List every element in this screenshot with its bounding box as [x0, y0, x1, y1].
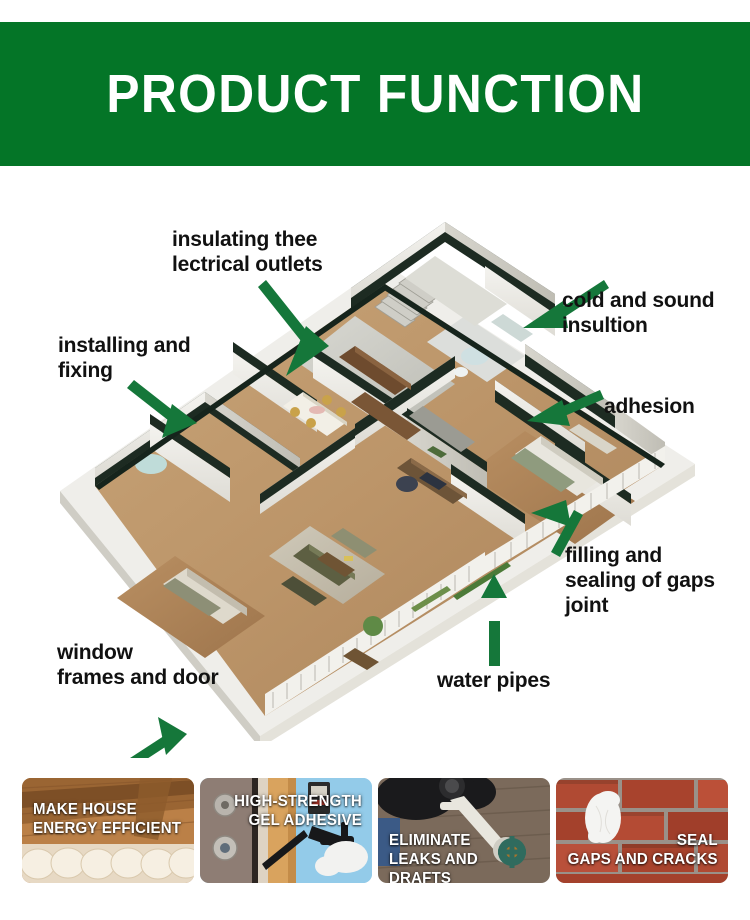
page-title: PRODUCT FUNCTION	[106, 67, 644, 121]
feature-thumbnail-strip: MAKE HOUSE ENERGY EFFICIENT	[0, 758, 750, 920]
annotation-water-pipes: water pipes	[437, 669, 550, 694]
annotation-window-frames-and-door: window frames and door	[57, 641, 219, 691]
annotation-installing-and-fixing: installing and fixing	[58, 334, 191, 384]
annotation-insulating-electrical-outlets: insulating thee lectrical outlets	[172, 228, 323, 278]
thumbnail-caption: ELIMINATE LEAKS AND DRAFTS	[389, 832, 540, 883]
thumbnail-caption: MAKE HOUSE ENERGY EFFICIENT	[33, 801, 181, 839]
thumbnail-eliminate-leaks-and-drafts[interactable]: ELIMINATE LEAKS AND DRAFTS	[378, 778, 550, 883]
thumbnail-caption: SEAL GAPS AND CRACKS	[568, 832, 718, 870]
header-banner: PRODUCT FUNCTION	[0, 22, 750, 166]
annotation-filling-sealing-gaps-joint: filling and sealing of gaps joint	[565, 544, 715, 618]
annotation-adhesion: adhesion	[604, 395, 695, 420]
product-function-diagram: insulating thee lectrical outlets instal…	[0, 166, 750, 758]
annotation-cold-and-sound-insulation: cold and sound insultion	[562, 289, 714, 339]
thumbnail-high-strength-gel-adhesive[interactable]: HIGH-STRENGTH GEL ADHESIVE	[200, 778, 372, 883]
thumbnail-caption: HIGH-STRENGTH GEL ADHESIVE	[234, 793, 362, 831]
thumbnail-make-house-energy-efficient[interactable]: MAKE HOUSE ENERGY EFFICIENT	[22, 778, 194, 883]
thumbnail-seal-gaps-and-cracks[interactable]: SEAL GAPS AND CRACKS	[556, 778, 728, 883]
